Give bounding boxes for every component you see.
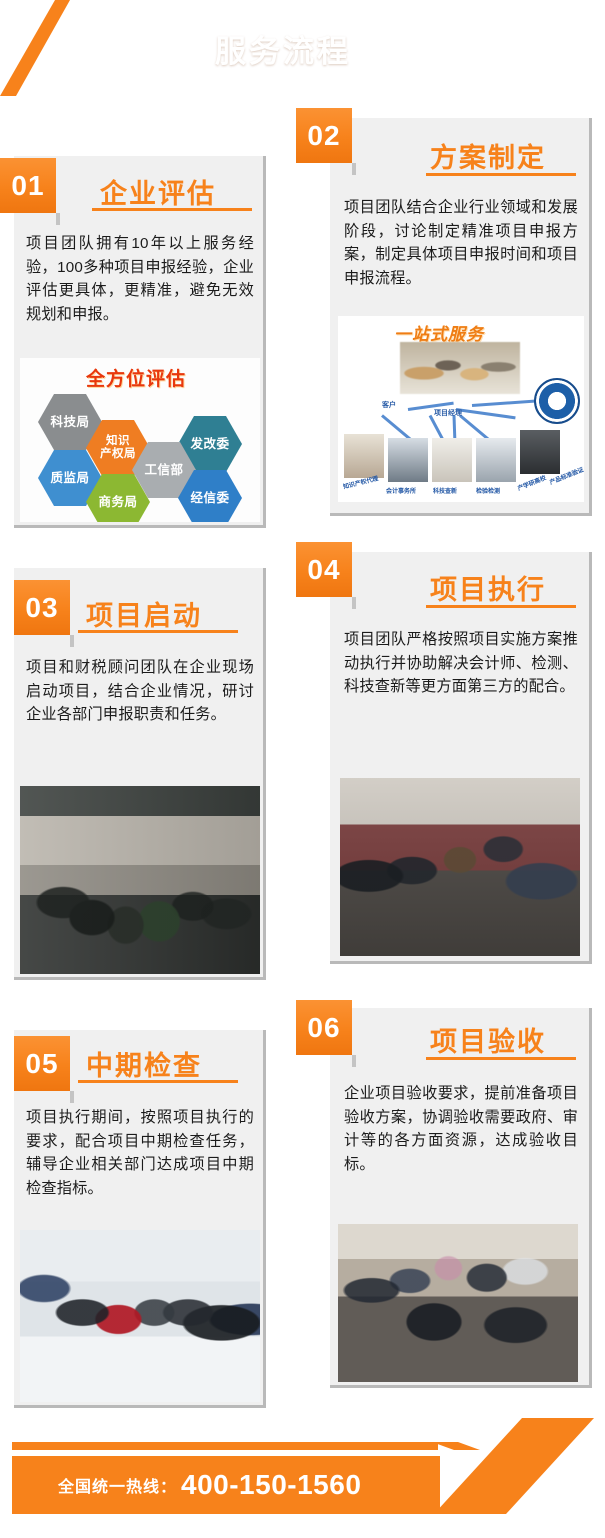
step-title-01: 企业评估 [100,172,216,211]
thumb-accounting [388,438,428,482]
footer-thin-rule-diagonal [432,1442,480,1450]
thumb-ip-agency [344,434,384,478]
step-title-04: 项目执行 [430,568,546,607]
hotline-number[interactable]: 400-150-1560 [181,1469,361,1501]
step-title-03: 项目启动 [86,594,202,633]
badge-shadow-06 [352,1055,356,1067]
step-number-03: 03 [14,580,70,635]
step-body-02: 项目团队结合企业行业领域和发展阶段，讨论制定精准项目申报方案，制定具体项目申报时… [344,196,578,291]
step-body-04: 项目团队严格按照项目实施方案推动执行并协助解决会计师、检测、科技查新等更方面第三… [344,628,578,699]
step-card-02: 方案制定 项目团队结合企业行业领域和发展阶段，讨论制定精准项目申报方案，制定具体… [330,118,592,516]
step-body-06: 企业项目验收要求，提前准备项目验收方案，协调验收需要政府、审计等的各方面资源，达… [344,1082,578,1177]
page-header: 服务流程 Service flow [0,0,605,112]
assessment-hex-diagram: 全方位评估 科技局 知识 产权局 发改委 质监局 工信部 商务局 经信委 [20,358,260,522]
step-number-05: 05 [14,1036,70,1091]
page-title-cn: 服务流程 [215,26,351,71]
thumb-tech-search [432,438,472,482]
photo-showroom-visit [20,1230,260,1402]
step-body-03: 项目和财税顾问团队在企业现场启动项目，结合企业情况，研讨企业各部门申报职责和任务… [26,656,254,727]
step-body-05: 项目执行期间，按照项目执行的要求，配合项目中期检查任务，辅导企业相关部门达成项目… [26,1106,254,1201]
step-number-02: 02 [296,108,352,163]
title-underline-06 [426,1057,576,1060]
infographic-page: 服务流程 Service flow 企业评估 项目团队拥有10年以上服务经验，1… [0,0,605,1538]
hex-diagram-title: 全方位评估 [86,364,186,391]
step-title-06: 项目验收 [430,1020,546,1059]
step-title-05: 中期检查 [86,1044,202,1083]
title-underline-02 [426,173,576,176]
title-underline-05 [78,1080,238,1083]
label-university: 产学研高校 [516,473,547,493]
team-photo-thumbnail [400,342,520,394]
step-card-04: 项目执行 项目团队严格按照项目实施方案推动执行并协助解决会计师、检测、科技查新等… [330,552,592,964]
page-title-en: Service flow [363,49,478,67]
header-diagonal-accent [0,0,70,96]
badge-shadow-02 [352,163,356,175]
label-tech-search: 科技查新 [433,486,457,495]
hotline: 全国统一热线： 400-150-1560 [58,1456,361,1514]
footer-thin-rule [12,1442,438,1450]
step-card-06: 项目验收 企业项目验收要求，提前准备项目验收方案，协调验收需要政府、审计等的各方… [330,1008,592,1388]
node-project-manager: 项目经理 [434,408,462,418]
flow-arrow-7 [472,399,538,407]
title-underline-01 [92,208,252,211]
badge-shadow-04 [352,597,356,609]
label-accounting: 会计事务所 [386,486,416,495]
badge-shadow-01 [56,213,60,225]
title-underline-03 [78,630,238,633]
one-stop-service-diagram: 一站式服务 客户 项目经理 知识产权代理 会计事务所 科技查新 检验检测 产学研… [338,316,584,502]
step-number-04: 04 [296,542,352,597]
node-customer: 客户 [382,400,396,410]
step-body-01: 项目团队拥有10年以上服务经验，100多种项目申报经验，企业评估更具体，更精准，… [26,232,254,327]
step-title-02: 方案制定 [430,136,546,175]
iso-seal-icon [534,378,580,424]
step-number-06: 06 [296,1000,352,1055]
footer-band-diagonal [434,1418,594,1514]
badge-shadow-03 [70,635,74,647]
badge-shadow-05 [70,1091,74,1103]
step-number-01: 01 [0,158,56,213]
thumb-university [520,430,560,474]
photo-meeting-laptops [340,778,580,956]
hotline-label: 全国统一热线： [58,1473,177,1497]
page-title: 服务流程 Service flow [215,26,478,72]
title-underline-04 [426,605,576,608]
photo-boardroom-acceptance [338,1224,578,1382]
thumb-inspection [476,438,516,482]
page-footer: 全国统一热线： 400-150-1560 [0,1398,605,1538]
label-inspection: 检验检测 [476,486,500,495]
photo-conference-room [20,786,260,974]
header-band [0,96,485,112]
